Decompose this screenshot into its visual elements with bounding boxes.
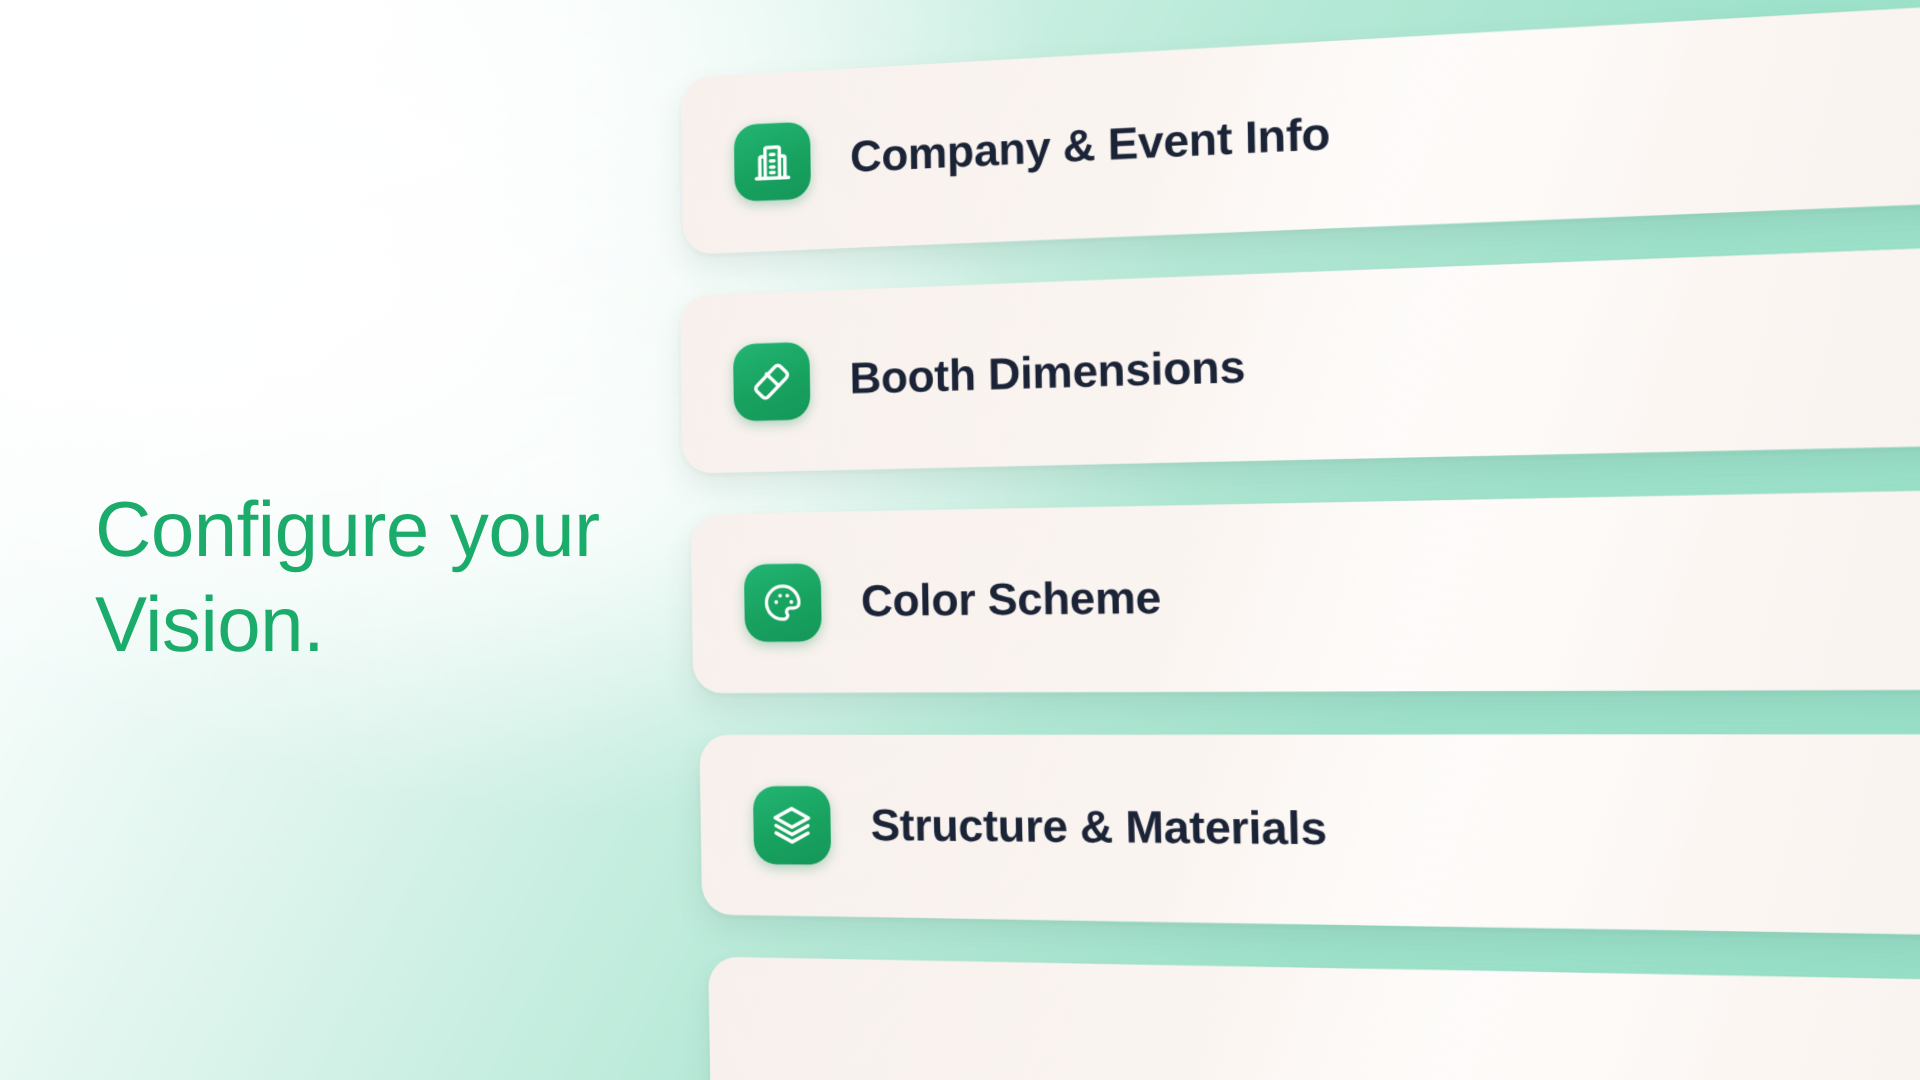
building-icon	[734, 121, 811, 202]
page-headline: Configure your Vision.	[95, 482, 655, 672]
accordion-item-label: Company & Event Info	[850, 78, 1920, 183]
accordion-item-label: Booth Dimensions	[849, 320, 1920, 405]
accordion-item-partial[interactable]	[708, 957, 1920, 1080]
accordion-item-label: Color Scheme	[861, 562, 1920, 627]
palette-icon	[744, 563, 822, 642]
accordion-item-structure-materials[interactable]: Structure & Materials	[699, 734, 1920, 937]
ruler-icon	[733, 342, 810, 422]
configuration-accordion: Company & Event Info Booth Dimensions	[677, 0, 1920, 1080]
accordion-item-booth-dimensions[interactable]: Booth Dimensions	[680, 244, 1920, 474]
layers-icon	[753, 786, 831, 865]
accordion-item-label	[802, 1049, 1920, 1080]
page-root: Configure your Vision. Company & Event I…	[0, 0, 1920, 1080]
accordion-item-label: Structure & Materials	[870, 801, 1920, 863]
accordion-item-color-scheme[interactable]: Color Scheme	[691, 488, 1920, 693]
